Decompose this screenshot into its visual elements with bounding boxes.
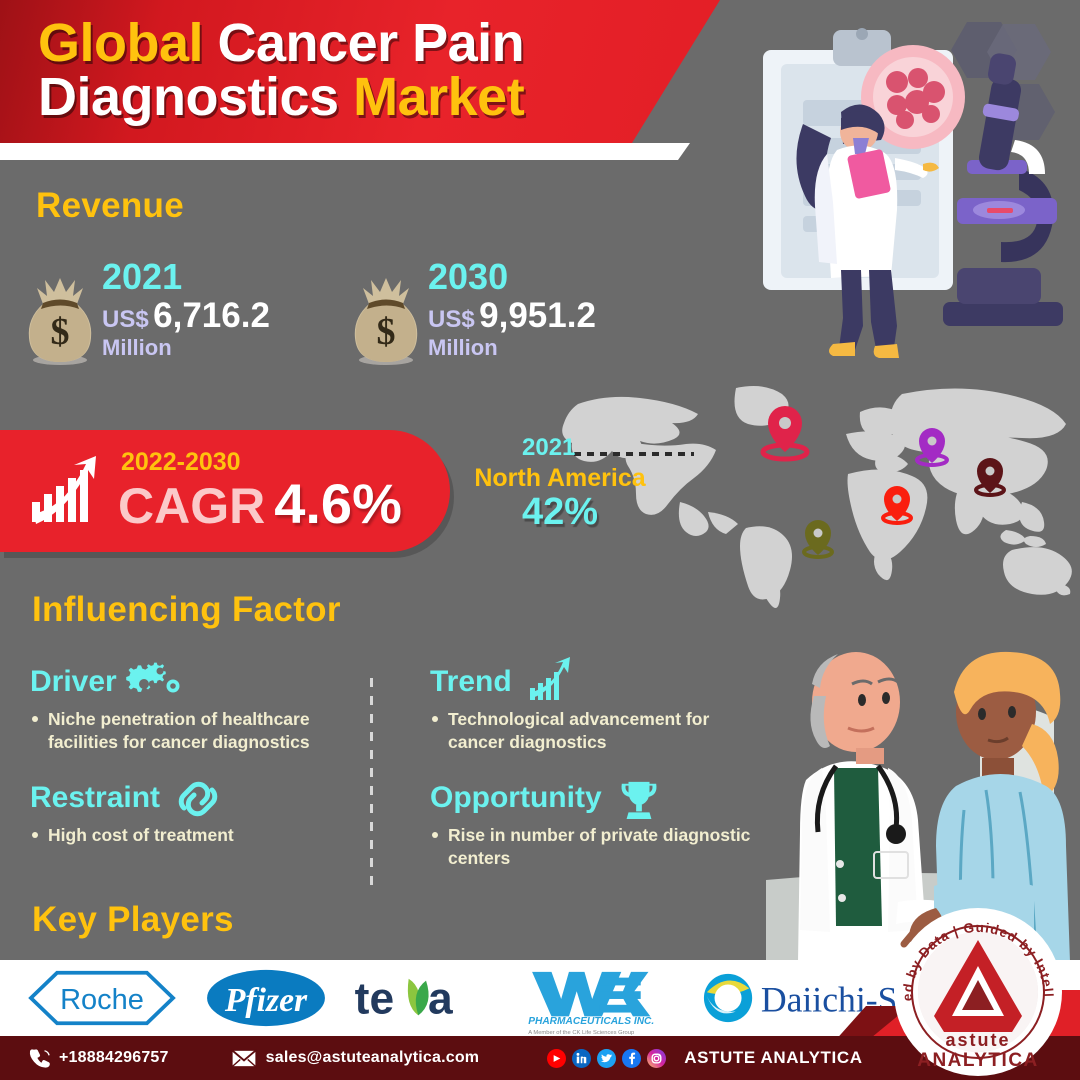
factor-restraint: Restraint High cost of treatment <box>30 778 360 847</box>
map-pin-europe <box>917 428 947 465</box>
revenue-year: 2030 <box>428 258 596 296</box>
linkedin-icon[interactable] <box>572 1049 591 1068</box>
bullet-item: High cost of treatment <box>30 824 360 847</box>
title-word-market: Market <box>353 67 524 127</box>
factor-trend: Trend Technological advancement for canc… <box>430 662 770 754</box>
roche-logo-text: Roche <box>60 984 144 1016</box>
map-callout-region: North America <box>470 464 650 493</box>
twitter-icon[interactable] <box>597 1049 616 1068</box>
chain-link-icon <box>174 778 222 818</box>
trophy-icon <box>616 778 664 818</box>
influencing-factor-title: Influencing Factor <box>32 590 341 630</box>
money-bag-icon: $ <box>350 270 422 366</box>
cagr-value: 4.6% <box>274 476 402 532</box>
revenue-value: 9,951.2 <box>479 296 596 335</box>
title-line-1: Global Cancer Pain <box>38 16 524 70</box>
astute-analytica-badge: Powered by Data | Guided by Intelligence… <box>888 906 1068 1078</box>
bar-chart-arrow-icon <box>526 662 574 702</box>
svg-text:a: a <box>428 974 453 1023</box>
cagr-label: CAGR <box>118 481 265 531</box>
factor-bullets: Niche penetration of healthcare faciliti… <box>30 708 360 754</box>
factor-opportunity: Opportunity Rise in number of private di… <box>430 778 770 870</box>
gears-icon <box>131 662 179 702</box>
bullet-item: Rise in number of private diagnostic cen… <box>430 824 770 870</box>
svg-text:$: $ <box>51 311 70 353</box>
map-pin-middle-east-africa <box>883 486 911 523</box>
factor-heading: Trend <box>430 662 770 702</box>
teva-logo-text: te <box>355 974 394 1023</box>
revenue-currency: US$ <box>428 306 475 333</box>
revenue-text-2030: 2030 US$ 9,951.2 Million <box>428 258 596 366</box>
revenue-text-2021: 2021 US$ 6,716.2 Million <box>102 258 270 366</box>
svg-text:$: $ <box>377 311 396 353</box>
instagram-icon[interactable] <box>647 1049 666 1068</box>
footer-email-text: sales@astuteanalytica.com <box>266 1049 480 1067</box>
factor-title: Opportunity <box>430 781 602 815</box>
scientist-microscope-illustration <box>745 12 1075 362</box>
roche-logo: Roche <box>26 969 178 1027</box>
map-pin-south-america <box>804 520 832 557</box>
factor-heading: Opportunity <box>430 778 770 818</box>
revenue-value: 6,716.2 <box>153 296 270 335</box>
wex-logo-sub2: A Member of the CK Life Sciences Group <box>528 1030 634 1036</box>
revenue-amount: US$ 9,951.2 <box>428 298 596 335</box>
growth-chart-arrow-icon <box>30 456 108 526</box>
revenue-unit: Million <box>102 336 270 360</box>
factor-title: Trend <box>430 665 512 699</box>
footer-email[interactable]: sales@astuteanalytica.com <box>231 1049 480 1068</box>
map-callout-share: 42% <box>470 493 650 533</box>
key-players-title: Key Players <box>32 900 234 940</box>
bullet-item: Niche penetration of healthcare faciliti… <box>30 708 360 754</box>
factor-bullets: High cost of treatment <box>30 824 360 847</box>
envelope-icon <box>231 1049 257 1068</box>
money-bag-icon: $ <box>24 270 96 366</box>
bullet-item: Technological advancement for cancer dia… <box>430 708 770 754</box>
cagr-text-block: 2022-2030 CAGR 4.6% <box>118 450 402 532</box>
cagr-value-row: CAGR 4.6% <box>118 476 402 532</box>
factor-bullets: Rise in number of private diagnostic cen… <box>430 824 770 870</box>
pfizer-logo-text: Pfizer <box>224 982 308 1019</box>
column-divider <box>370 678 373 890</box>
revenue-card-2021: $ 2021 US$ 6,716.2 Million <box>24 258 270 366</box>
factor-heading: Driver <box>30 662 360 702</box>
factor-driver: Driver Niche penetration of healthcare f… <box>30 662 360 754</box>
facebook-icon[interactable] <box>622 1049 641 1068</box>
wex-logo: PHARMACEUTICALS INC. A Member of the CK … <box>526 966 672 1030</box>
title-line-2: Diagnostics Market <box>38 70 524 124</box>
factor-bullets: Technological advancement for cancer dia… <box>430 708 770 754</box>
title-word-global: Global <box>38 13 203 73</box>
factor-title: Restraint <box>30 781 160 815</box>
social-links <box>547 1049 666 1068</box>
header-white-stripe <box>0 143 690 160</box>
revenue-unit: Million <box>428 336 596 360</box>
factor-heading: Restraint <box>30 778 360 818</box>
revenue-year: 2021 <box>102 258 270 296</box>
footer-phone-text: +18884296757 <box>59 1049 169 1067</box>
revenue-card-2030: $ 2030 US$ 9,951.2 Million <box>350 258 596 366</box>
revenue-section-title: Revenue <box>36 186 184 226</box>
wex-logo-sub1: PHARMACEUTICALS INC. <box>528 1016 654 1027</box>
pfizer-logo: Pfizer <box>204 969 328 1027</box>
factor-title: Driver <box>30 665 117 699</box>
title-word-diagnostics: Diagnostics <box>38 67 339 127</box>
page-title: Global Cancer Pain Diagnostics Market <box>38 16 524 124</box>
footer-brand: ASTUTE ANALYTICA <box>684 1048 862 1068</box>
youtube-icon[interactable] <box>547 1049 566 1068</box>
cagr-banner: 2022-2030 CAGR 4.6% <box>0 430 450 552</box>
map-pin-asia-pacific <box>976 458 1004 495</box>
footer-phone[interactable]: +18884296757 <box>30 1048 169 1068</box>
phone-icon <box>30 1048 50 1068</box>
map-pin-north-america <box>763 406 807 459</box>
revenue-currency: US$ <box>102 306 149 333</box>
footer-brand-text: ASTUTE ANALYTICA <box>684 1048 862 1067</box>
infographic-canvas: Global Cancer Pain Diagnostics Market <box>0 0 1080 1080</box>
revenue-amount: US$ 6,716.2 <box>102 298 270 335</box>
badge-name-bottom: ANALYTICA <box>917 1050 1039 1071</box>
teva-logo: te a <box>354 971 500 1025</box>
badge-name-top: astute <box>945 1030 1010 1050</box>
title-words-cancer-pain: Cancer Pain <box>218 13 525 73</box>
map-callout-year: 2021 <box>522 434 650 462</box>
map-callout: 2021 North America 42% <box>470 434 650 533</box>
